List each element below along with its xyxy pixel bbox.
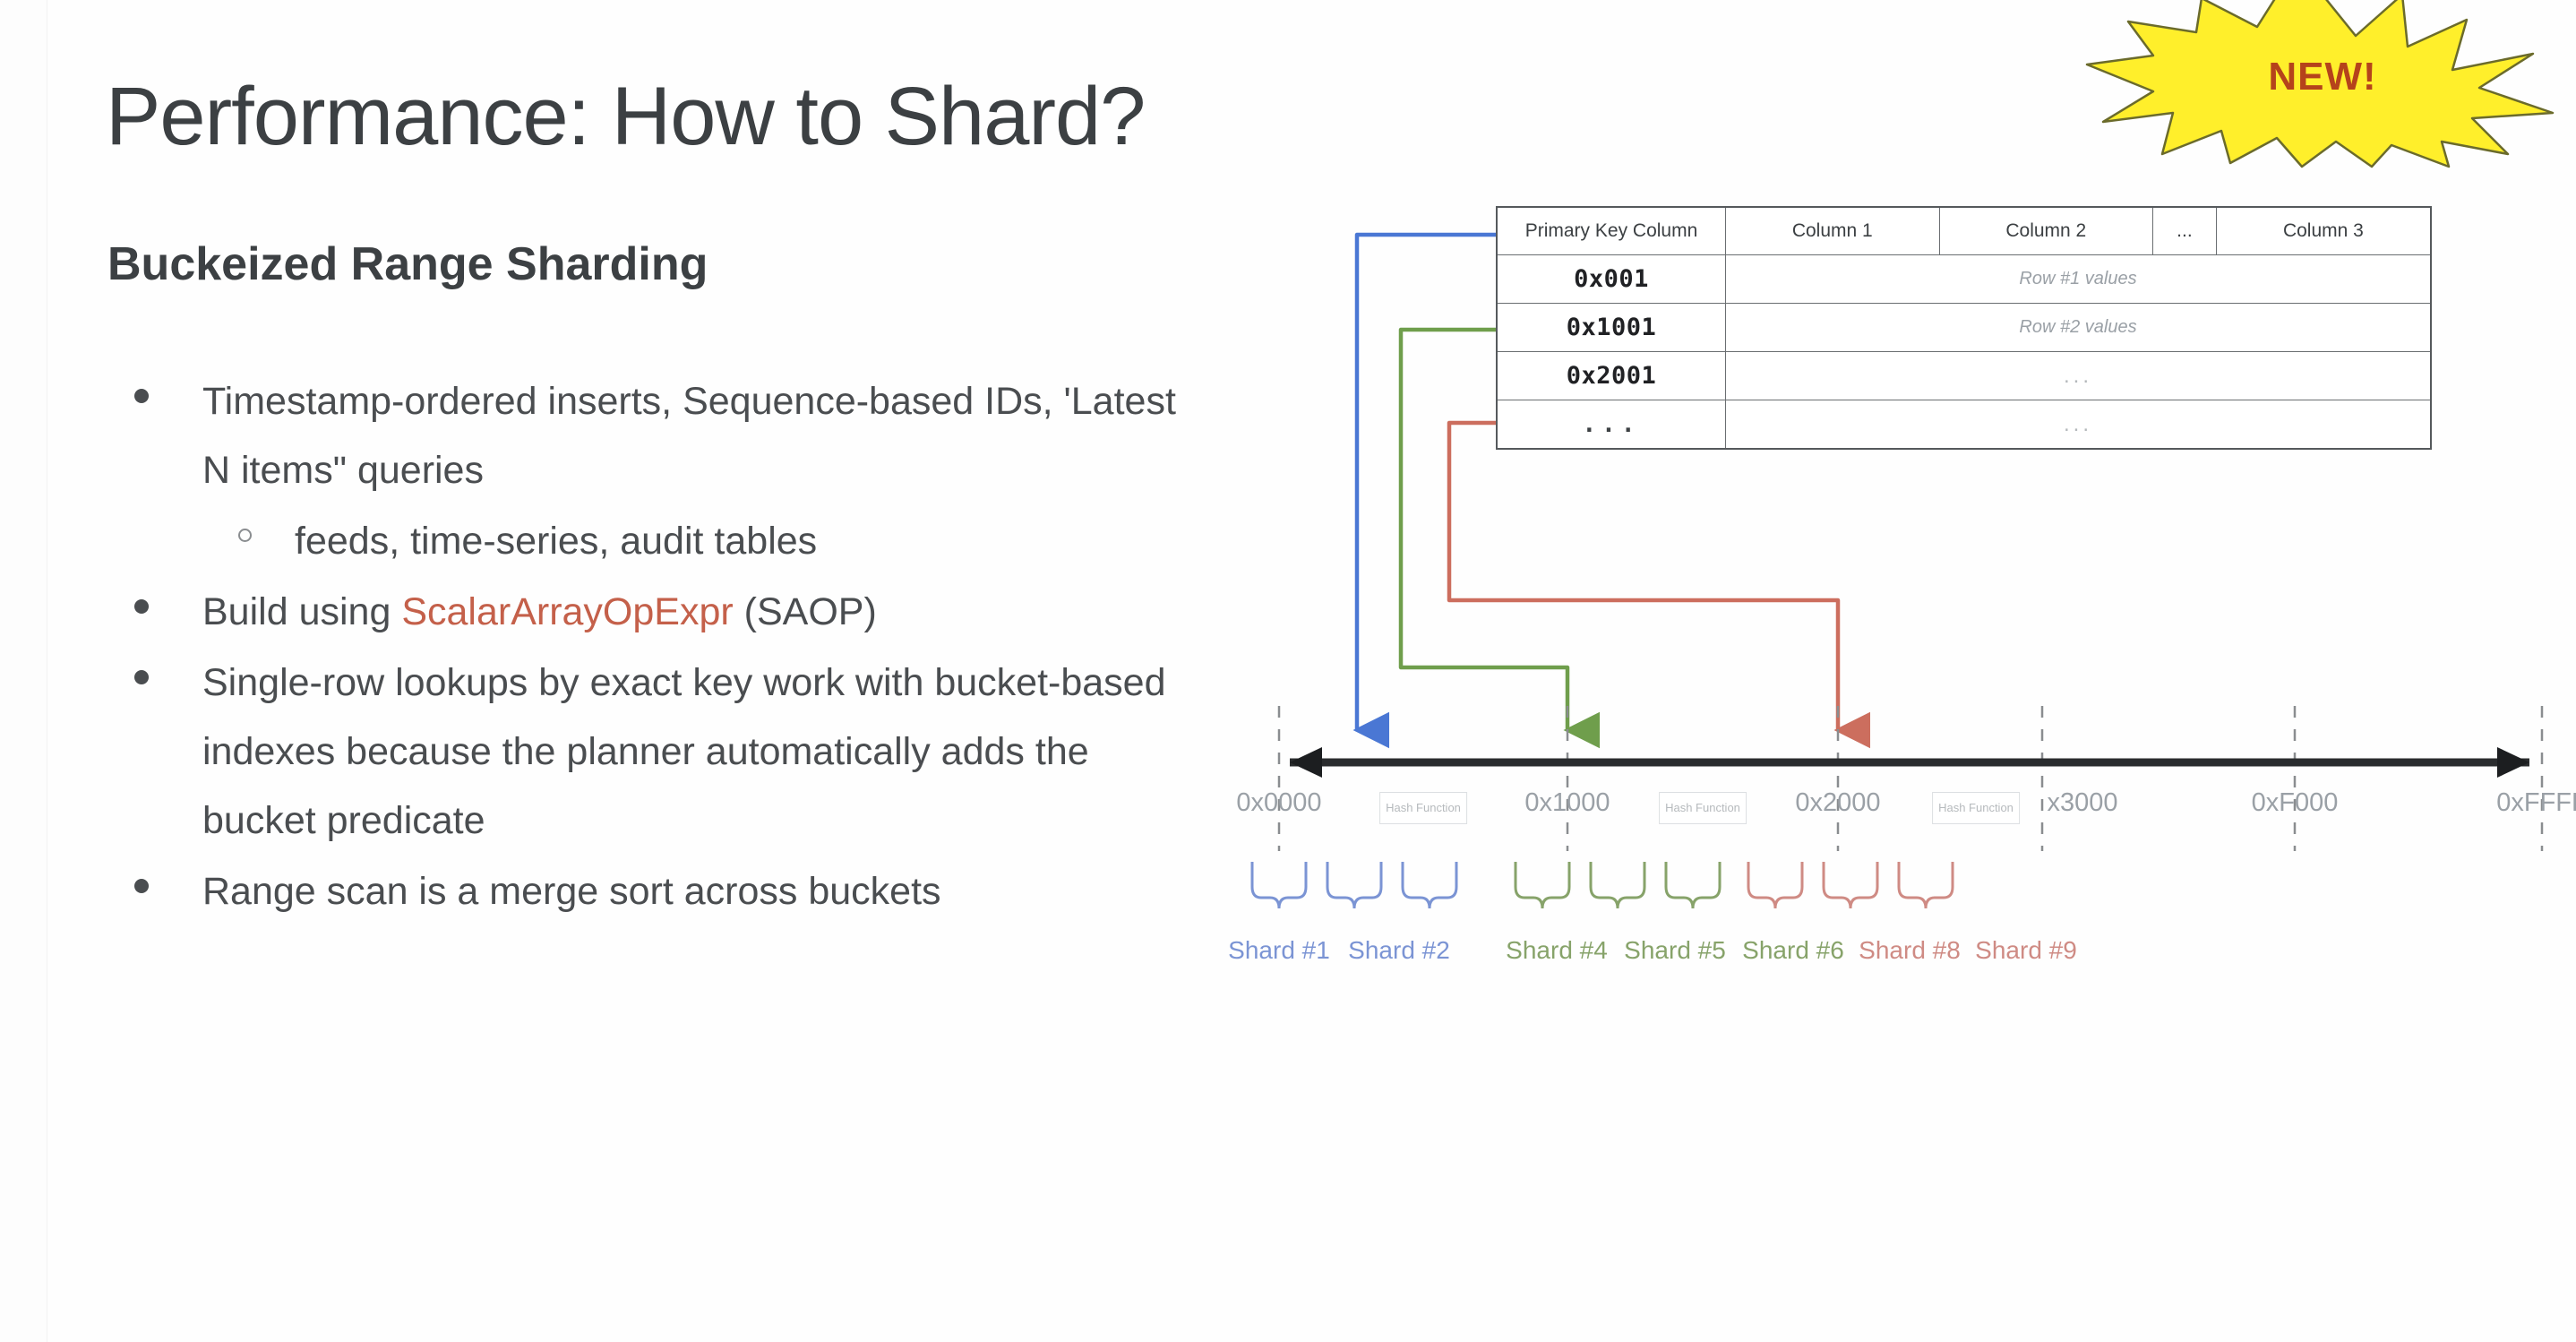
shard-label-1: Shard #1 [1228,936,1330,965]
axis-tick-label-0: 0x0000 [1236,788,1321,818]
row-primary-key: 0x1001 [1497,304,1726,352]
column-header-2: Column 2 [1939,207,2153,255]
row-primary-key: 0x2001 [1497,352,1726,400]
shard-label-2: Shard #2 [1348,936,1450,965]
page-title: Performance: How to Shard? [106,70,1145,164]
list-item: Timestamp-ordered inserts, Sequence-base… [134,367,1191,505]
section-subtitle: Buckeized Range Sharding [107,237,708,291]
table-row: 0x001 Row #1 values [1497,255,2431,304]
bullet-text-after: (SAOP) [734,590,877,633]
axis-label-row: 0x0000 Hash Function 0x1000 Hash Functio… [1200,788,2562,830]
table-row: 0x1001 Row #2 values [1497,304,2431,352]
data-table: Primary Key Column Column 1 Column 2 ...… [1496,206,2432,450]
sharding-diagram: Primary Key Column Column 1 Column 2 ...… [1200,170,2562,994]
key-space-axis [1290,747,2529,778]
row-primary-key: ... [1497,400,1726,450]
bullet-disc-icon [134,389,149,403]
column-header-3: Column 3 [2216,207,2431,255]
axis-tick-label-5: 0xFFFF [2496,788,2576,818]
list-item-sub: feeds, time-series, audit tables [238,507,1191,576]
row-values: Row #2 values [1726,304,2432,352]
bullet-text-before: Build using [202,590,401,633]
bullet-text: Range scan is a merge sort across bucket… [202,857,941,926]
bucket-braces [1252,862,1953,908]
table-row: ... ... [1497,400,2431,450]
slide-left-margin [0,0,47,1342]
bullet-text: Timestamp-ordered inserts, Sequence-base… [202,367,1191,505]
axis-tick-label-4: 0xF000 [2252,788,2339,818]
bullet-text: feeds, time-series, audit tables [295,507,817,576]
hash-function-box-2: Hash Function [1659,792,1747,824]
shard-label-6: Shard #6 [1742,936,1844,965]
bullet-text: Single-row lookups by exact key work wit… [202,649,1191,856]
bullet-disc-icon [134,599,149,614]
column-header-1: Column 1 [1726,207,1940,255]
axis-tick-label-3: x3000 [2047,788,2117,818]
list-item: Single-row lookups by exact key work wit… [134,649,1191,856]
list-item: Build using ScalarArrayOpExpr (SAOP) [134,578,1191,647]
row-values: Row #1 values [1726,255,2432,304]
bullet-accent-term: ScalarArrayOpExpr [401,590,733,633]
connector-row1 [1357,235,1516,730]
shard-label-row: Shard #1 Shard #2 Shard #4 Shard #5 Shar… [1200,936,2562,972]
starburst-icon [2087,0,2553,167]
shard-label-9: Shard #9 [1975,936,2077,965]
row-primary-key: 0x001 [1497,255,1726,304]
bullet-disc-icon [134,670,149,684]
column-header-ellipsis: ... [2153,207,2217,255]
row-values: ... [1726,400,2432,450]
bullet-circle-icon [238,529,252,542]
table-header-row: Primary Key Column Column 1 Column 2 ...… [1497,207,2431,255]
table-row: 0x2001 ... [1497,352,2431,400]
axis-tick-label-1: 0x1000 [1524,788,1610,818]
shard-label-5: Shard #5 [1624,936,1726,965]
axis-tick-label-2: 0x2000 [1795,788,1880,818]
connector-row3 [1449,423,1838,730]
shard-label-8: Shard #8 [1859,936,1961,965]
slide-canvas: Performance: How to Shard? Buckeized Ran… [0,0,2576,1342]
bullet-disc-icon [134,879,149,893]
new-badge: NEW! [2087,0,2553,167]
hash-function-box-3: Hash Function [1932,792,2020,824]
bullet-list: Timestamp-ordered inserts, Sequence-base… [134,367,1191,928]
hash-function-box-1: Hash Function [1379,792,1467,824]
bullet-text: Build using ScalarArrayOpExpr (SAOP) [202,578,877,647]
row-values: ... [1726,352,2432,400]
shard-label-4: Shard #4 [1506,936,1608,965]
list-item: Range scan is a merge sort across bucket… [134,857,1191,926]
column-header-primary-key: Primary Key Column [1497,207,1726,255]
